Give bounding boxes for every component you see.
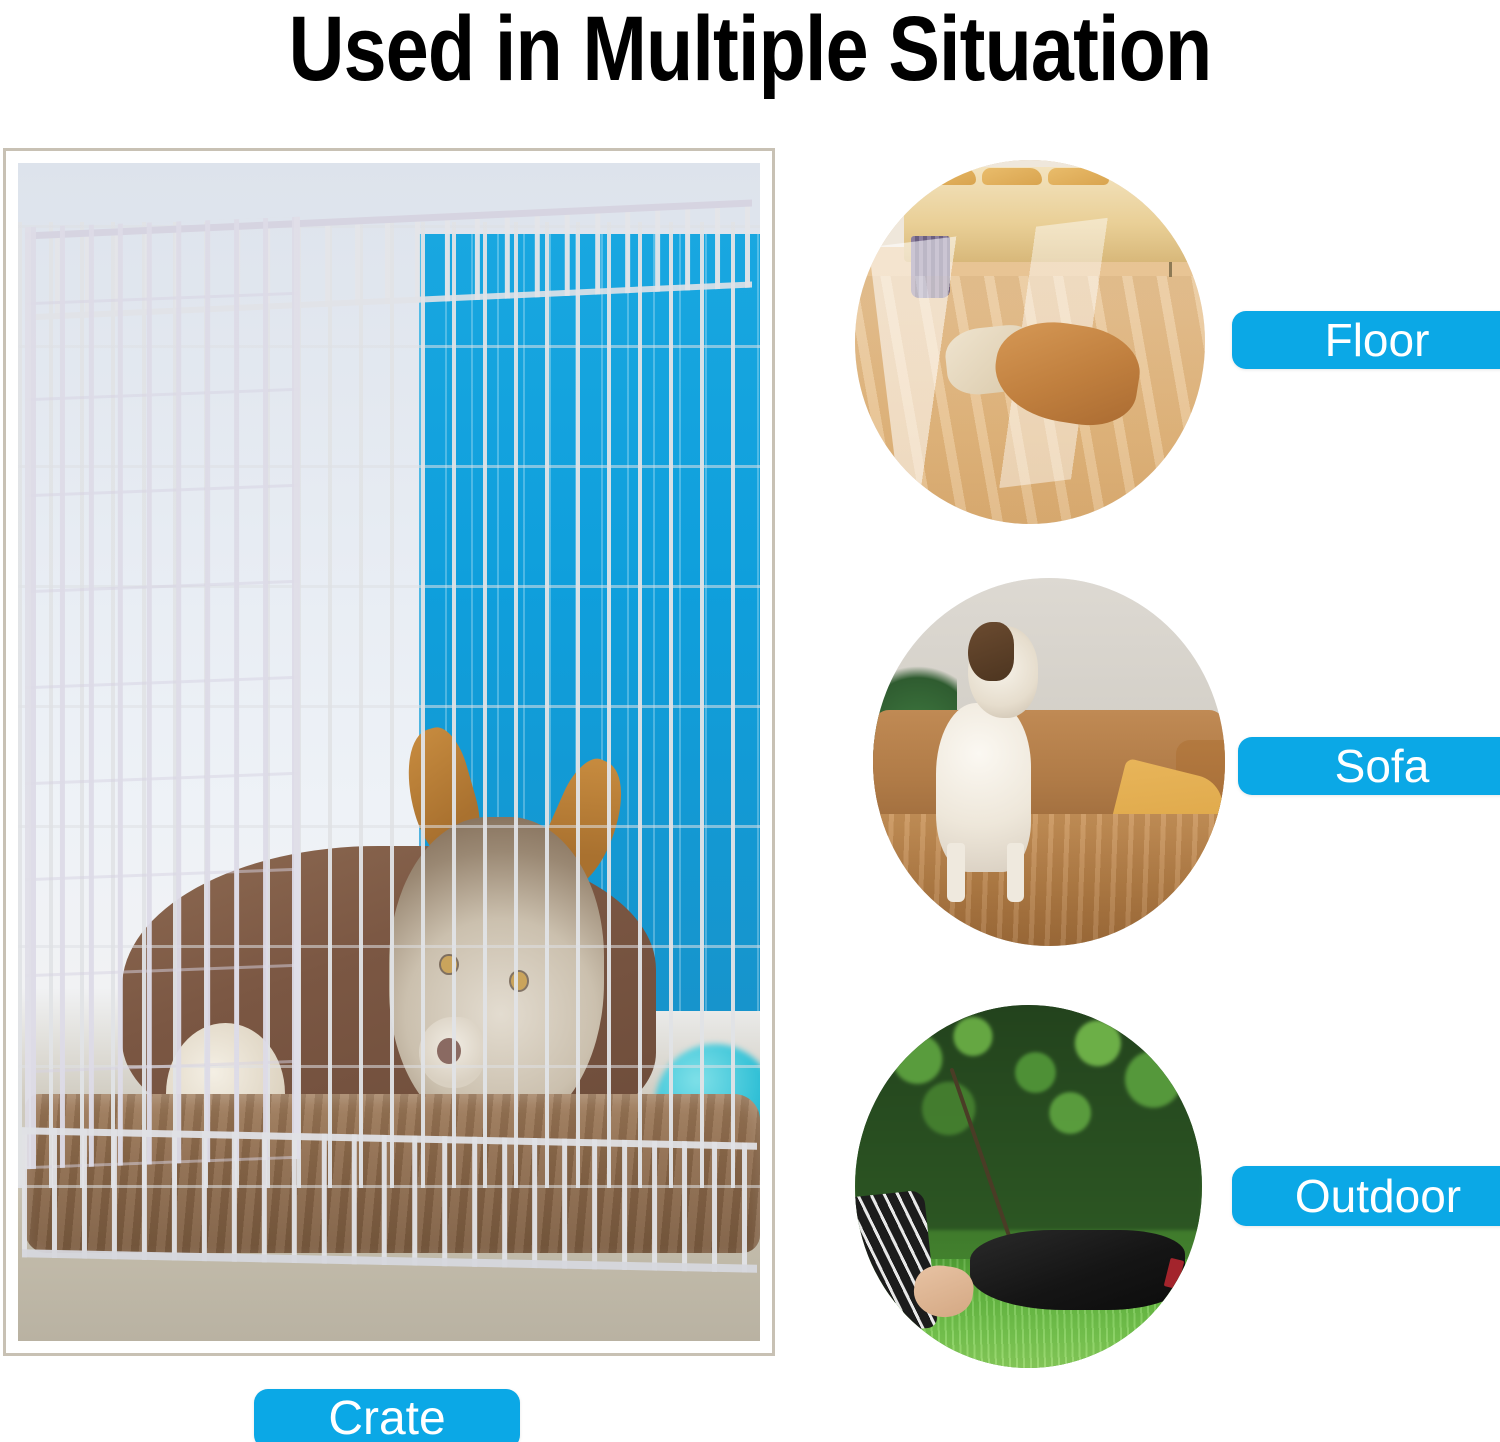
sofa-scene-dog-hair xyxy=(968,622,1014,681)
crate-photo-frame xyxy=(3,148,775,1356)
label-badge-outdoor: Outdoor xyxy=(1232,1166,1500,1226)
floor-scene-cushion-2 xyxy=(982,168,1042,185)
floor-scene-cushion-1 xyxy=(916,168,976,185)
situation-photo-outdoor xyxy=(855,1005,1202,1368)
crate-photo xyxy=(18,163,760,1341)
situation-photo-sofa xyxy=(873,578,1225,946)
sofa-scene-dog-leg-2 xyxy=(1007,843,1025,902)
crate-scene-dog-eye-right xyxy=(511,972,527,990)
crate-scene-dog-head xyxy=(389,817,604,1135)
situation-photo-floor xyxy=(855,160,1205,524)
sofa-scene-dog-leg-1 xyxy=(947,843,965,902)
crate-scene-dog-nose xyxy=(437,1038,461,1064)
outdoor-scene-dog xyxy=(970,1230,1185,1310)
infographic-page: Used in Multiple Situation Crate xyxy=(0,0,1500,1442)
floor-scene-cushion-4 xyxy=(1115,168,1175,185)
label-badge-floor: Floor xyxy=(1232,311,1500,369)
floor-scene-cushion-3 xyxy=(1048,168,1108,185)
crate-wire-bottom-rail xyxy=(22,1127,757,1272)
page-title: Used in Multiple Situation xyxy=(120,0,1380,104)
label-badge-crate: Crate xyxy=(254,1389,520,1442)
sofa-scene-seat-cushion xyxy=(873,814,1225,946)
crate-scene-dog-eye-left xyxy=(441,956,457,974)
sofa-scene xyxy=(873,578,1225,946)
outdoor-scene xyxy=(855,1005,1202,1368)
floor-scene xyxy=(855,160,1205,524)
label-badge-sofa: Sofa xyxy=(1238,737,1500,795)
outdoor-scene-striped-sleeve xyxy=(855,1189,938,1336)
crate-wire-door-panel xyxy=(25,217,300,1170)
